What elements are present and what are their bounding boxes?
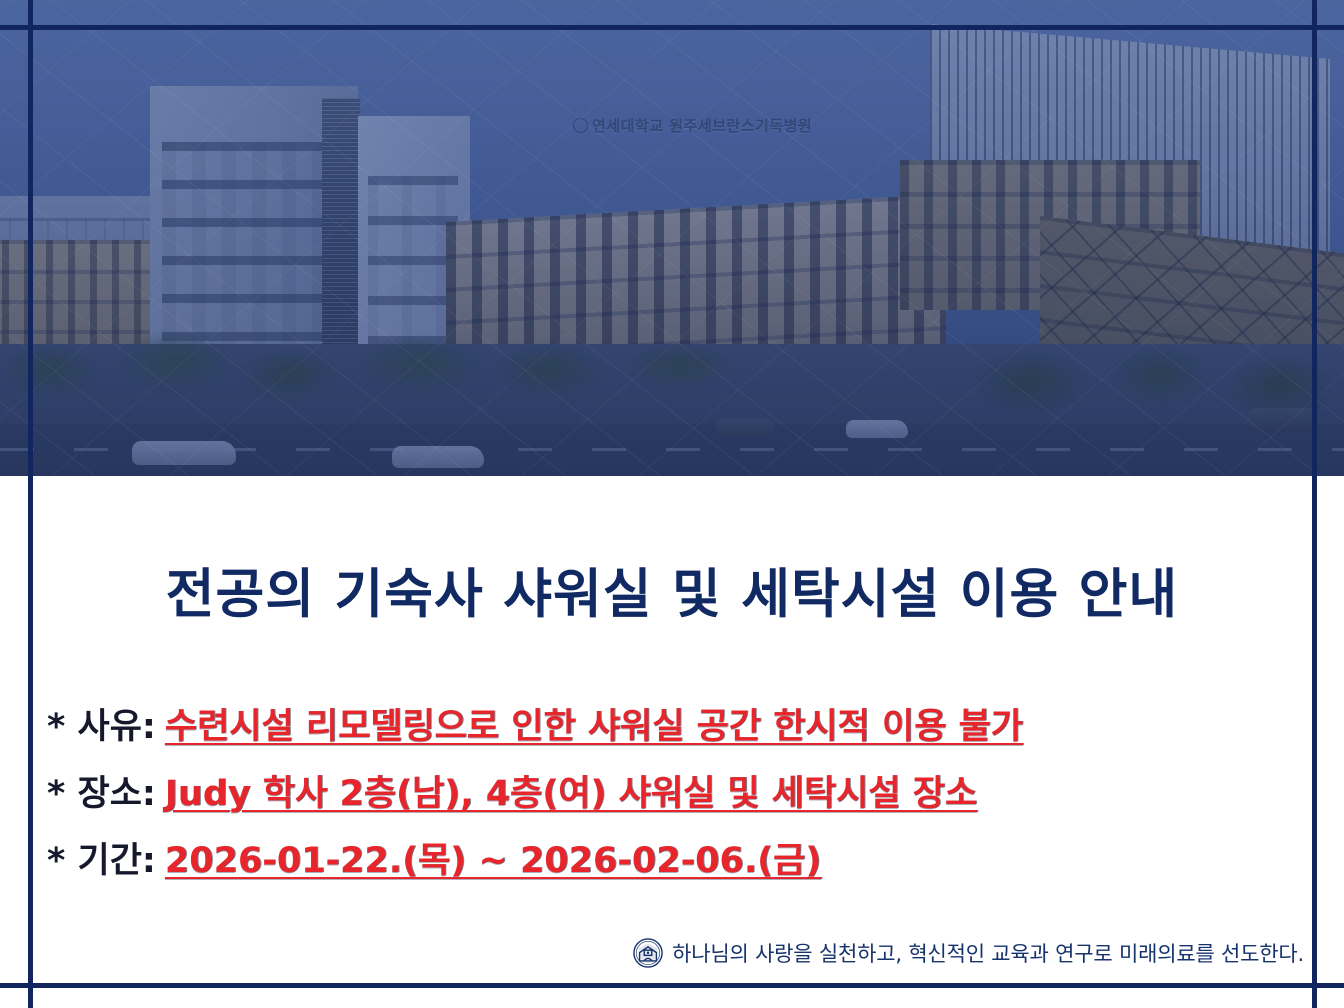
detail-row-location: * 장소: Judy 학사 2층(남), 4층(여) 샤워실 및 세탁시설 장소: [47, 765, 1297, 816]
detail-label-reason: * 사유:: [47, 698, 156, 749]
frame-line-top: [0, 25, 1344, 30]
car-dark-right: [716, 418, 774, 436]
car-white-right: [846, 420, 908, 438]
building-sign-text: 연세대학교 원주세브란스기독병원: [573, 115, 812, 136]
footer-slogan: 하나님의 사랑을 실천하고, 혁신적인 교육과 연구로 미래의료를 선도한다.: [633, 938, 1304, 968]
notice-details-list: * 사유: 수련시설 리모델링으로 인한 샤워실 공간 한시적 이용 불가 * …: [47, 698, 1297, 899]
car-dark-far-right: [1248, 408, 1320, 430]
tree-canopy-left: [0, 330, 770, 430]
detail-row-period: * 기간: 2026-01-22.(목) ~ 2026-02-06.(금): [47, 832, 1297, 883]
sign-seal-icon: [573, 118, 588, 133]
hero-photo: 연세대학교 원주세브란스기독병원: [0, 0, 1344, 476]
detail-row-reason: * 사유: 수련시설 리모델링으로 인한 샤워실 공간 한시적 이용 불가: [47, 698, 1297, 749]
detail-value-period: 2026-01-22.(목) ~ 2026-02-06.(금): [165, 832, 821, 883]
frame-line-left: [28, 0, 33, 1008]
slogan-text: 하나님의 사랑을 실천하고, 혁신적인 교육과 연구로 미래의료를 선도한다.: [672, 938, 1304, 968]
detail-label-location: * 장소:: [47, 765, 156, 816]
detail-value-location: Judy 학사 2층(남), 4층(여) 샤워실 및 세탁시설 장소: [165, 765, 977, 816]
page-title: 전공의 기숙사 샤워실 및 세탁시설 이용 안내: [0, 552, 1344, 628]
car-white-left: [132, 441, 236, 465]
yonsei-seal-icon: [633, 938, 663, 968]
sign-label: 연세대학교 원주세브란스기독병원: [592, 117, 812, 135]
car-white-mid: [392, 446, 484, 468]
notice-poster: 연세대학교 원주세브란스기독병원 전공의 기숙사 샤워실 및 세탁시설 이용 안…: [0, 0, 1344, 1008]
detail-label-period: * 기간:: [47, 832, 156, 883]
detail-value-reason: 수련시설 리모델링으로 인한 샤워실 공간 한시적 이용 불가: [165, 698, 1023, 749]
notice-body-panel: 전공의 기숙사 샤워실 및 세탁시설 이용 안내 * 사유: 수련시설 리모델링…: [0, 476, 1344, 1008]
frame-line-bottom: [0, 983, 1344, 988]
frame-line-right: [1312, 0, 1317, 1008]
